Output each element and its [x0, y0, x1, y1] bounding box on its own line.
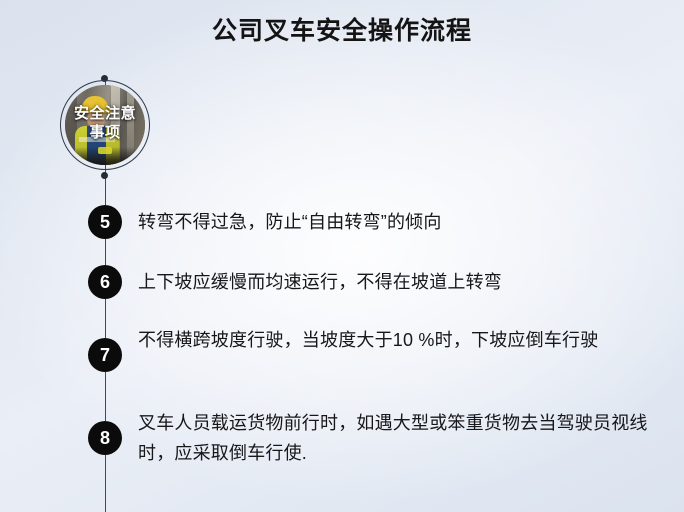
step-text-6: 上下坡应缓慢而均速运行，不得在坡道上转弯: [138, 267, 658, 297]
slide-canvas: 公司叉车安全操作流程 安全注意 事项 5 转弯不得过急，防止“自由转弯”的倾向: [0, 0, 684, 512]
step-number-badge-8: 8: [88, 421, 122, 455]
section-header-label: 安全注意 事项: [60, 104, 150, 142]
step-text-5: 转弯不得过急，防止“自由转弯”的倾向: [138, 207, 658, 237]
section-header-node: 安全注意 事项: [60, 80, 150, 170]
step-text-7: 不得横跨坡度行驶，当坡度大于10 %时，下坡应倒车行驶: [138, 325, 658, 355]
step-number-badge-7: 7: [88, 338, 122, 372]
section-header-label-line2: 事项: [60, 123, 150, 142]
step-text-8: 叉车人员载运货物前行时，如遇大型或笨重货物去当驾驶员视线时，应采取倒车行使.: [138, 408, 658, 468]
step-number-badge-5: 5: [88, 205, 122, 239]
page-title: 公司叉车安全操作流程: [0, 14, 684, 48]
step-number-badge-6: 6: [88, 265, 122, 299]
timeline-dot-bottom: [101, 172, 108, 179]
section-header-label-line1: 安全注意: [74, 105, 136, 122]
